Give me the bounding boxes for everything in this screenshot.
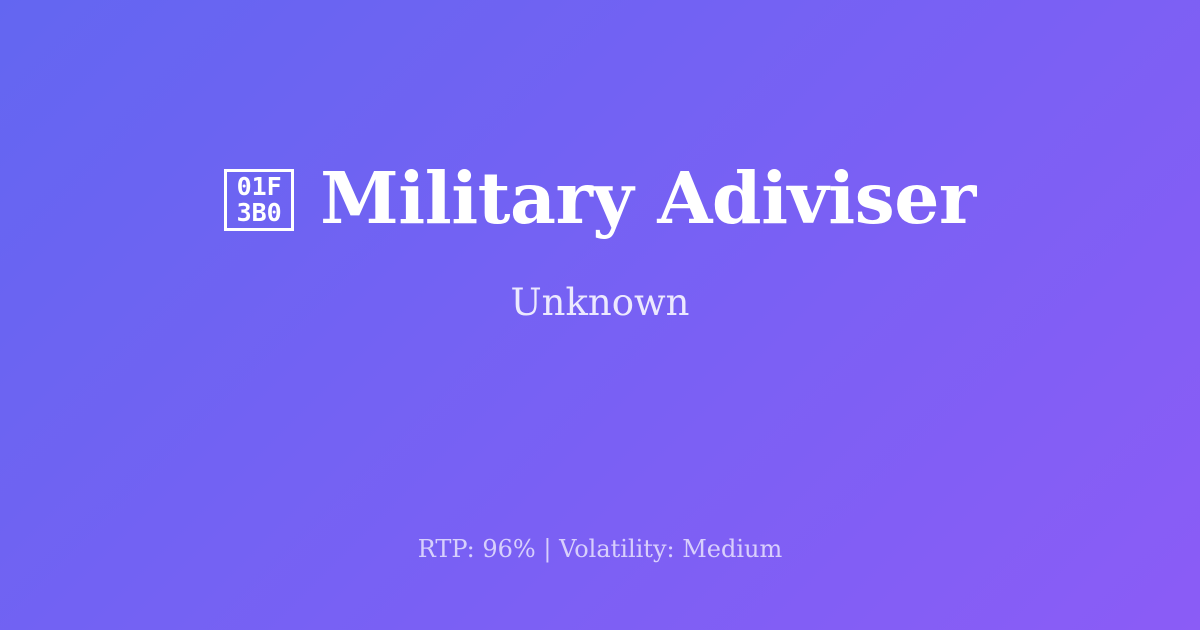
hero-section: 01F 3B0 Military Adiviser Unknown [0, 0, 1200, 500]
tofu-codepoint-top: 01F [237, 174, 282, 200]
title-row: 01F 3B0 Military Adiviser [0, 156, 1200, 240]
footer-meta: RTP: 96% | Volatility: Medium [0, 534, 1200, 564]
tofu-codepoint-bottom: 3B0 [237, 200, 282, 226]
slot-machine-tofu-icon: 01F 3B0 [224, 169, 294, 231]
page-subtitle: Unknown [510, 280, 689, 326]
og-card: 01F 3B0 Military Adiviser Unknown RTP: 9… [0, 0, 1200, 630]
page-title: Military Adiviser [320, 156, 976, 240]
